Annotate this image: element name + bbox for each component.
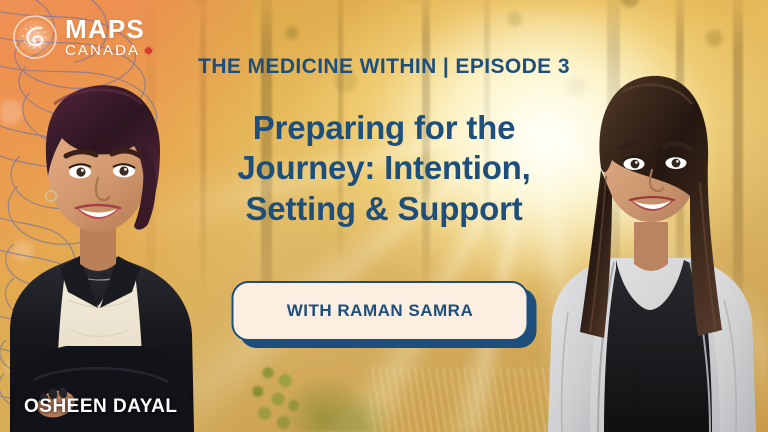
episode-eyebrow: THE MEDICINE WITHIN | EPISODE 3: [0, 55, 768, 79]
video-thumbnail-canvas: MAPS CANADA THE MEDICINE WITHIN | EPISOD…: [0, 0, 768, 432]
guest-badge[interactable]: WITH RAMAN SAMRA: [232, 281, 537, 348]
page-title: Preparing for the Journey: Intention, Se…: [169, 108, 599, 229]
guest-badge-body[interactable]: WITH RAMAN SAMRA: [232, 281, 529, 341]
logo-wordmark: MAPS CANADA: [65, 16, 154, 58]
headline-line-1: Preparing for the: [169, 108, 599, 148]
logo-primary-text: MAPS: [65, 16, 154, 42]
headline-line-2: Journey: Intention,: [169, 148, 599, 188]
host-name-label: OSHEEN DAYAL: [24, 396, 177, 418]
headline-line-3: Setting & Support: [169, 189, 599, 229]
brand-logo[interactable]: MAPS CANADA: [12, 14, 154, 60]
maps-circular-emblem-icon: [12, 14, 58, 60]
guest-badge-label: WITH RAMAN SAMRA: [287, 301, 473, 321]
